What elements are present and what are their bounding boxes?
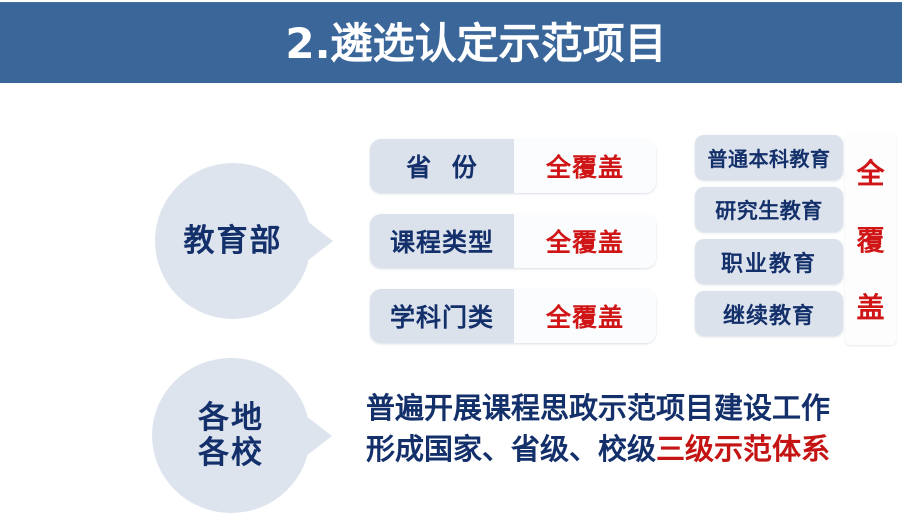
bottom-statement: 普遍开展课程思政示范项目建设工作 形成国家、省级、校级三级示范体系 [366, 388, 896, 470]
slide-body: 教育部 各地 各校 省 份 全覆盖 课程类型 全覆盖 学科门类 全覆盖 普通本科… [0, 83, 902, 529]
statement-line-2-emphasis: 三级示范体系 [656, 432, 830, 466]
pill-label-province: 省 份 [370, 139, 514, 193]
bubble-tail-icon [306, 416, 332, 456]
pill-row-subject-category: 学科门类 全覆盖 [370, 289, 656, 343]
coverage-char-1: 全 [856, 152, 884, 192]
bubble-local-label-line-1: 各地 [198, 401, 264, 436]
pill-value-province: 全覆盖 [514, 139, 656, 193]
bubble-local-and-schools: 各地 各校 [152, 358, 310, 513]
bubble-tail-icon [307, 221, 333, 261]
coverage-char-2: 覆 [856, 219, 884, 259]
coverage-char-3: 盖 [856, 286, 884, 326]
bubble-ministry-of-education: 教育部 [155, 163, 311, 319]
pill-vocational-education: 职业教育 [695, 239, 843, 284]
pill-value-course-type: 全覆盖 [514, 214, 656, 268]
coverage-vertical-label: 全 覆 盖 [845, 133, 896, 345]
pill-label-subject-category: 学科门类 [370, 289, 514, 343]
pill-graduate-education: 研究生教育 [695, 187, 843, 232]
statement-line-2: 形成国家、省级、校级三级示范体系 [366, 429, 896, 470]
education-levels-group: 普通本科教育 研究生教育 职业教育 继续教育 全 覆 盖 [688, 133, 896, 345]
page-title: 2.遴选认定示范项目 [0, 3, 902, 84]
bubble-local-label-line-2: 各校 [198, 436, 264, 471]
pill-value-subject-category: 全覆盖 [514, 289, 656, 343]
bubble-ministry-label: 教育部 [184, 224, 283, 259]
pill-undergraduate-education: 普通本科教育 [695, 135, 843, 180]
pill-row-province: 省 份 全覆盖 [370, 139, 656, 193]
pill-row-course-type: 课程类型 全覆盖 [370, 214, 656, 268]
statement-line-2-prefix: 形成国家、省级、校级 [366, 432, 656, 466]
slide-header-band: 2.遴选认定示范项目 [0, 2, 902, 83]
pill-label-course-type: 课程类型 [370, 214, 514, 268]
pill-continuing-education: 继续教育 [695, 291, 843, 336]
statement-line-1: 普遍开展课程思政示范项目建设工作 [366, 388, 896, 429]
